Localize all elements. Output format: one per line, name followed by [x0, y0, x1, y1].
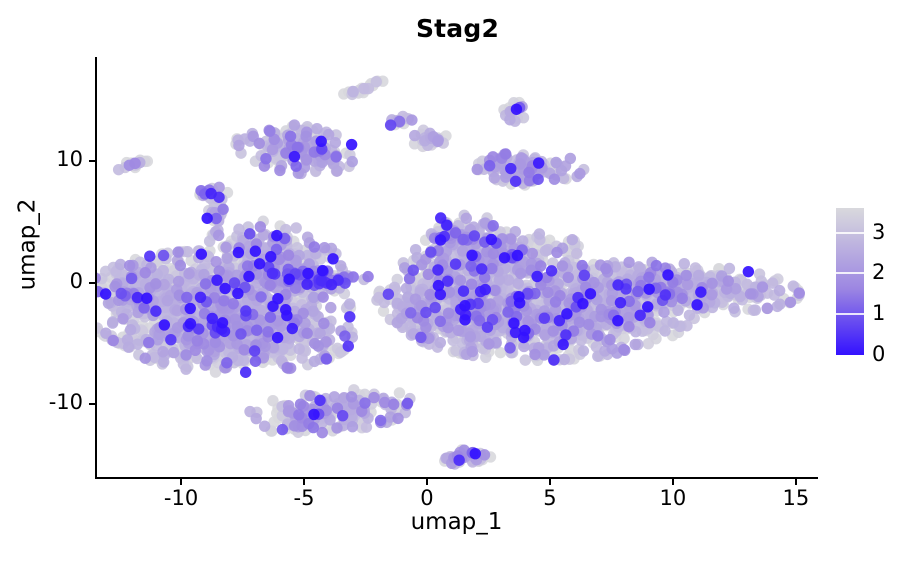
x-tick-mark — [303, 479, 305, 485]
y-tick-mark — [89, 160, 95, 162]
x-tick-label: 10 — [638, 487, 708, 509]
x-tick-label: 5 — [515, 487, 585, 509]
x-tick-mark — [180, 479, 182, 485]
y-tick-label: -10 — [0, 391, 83, 413]
y-tick-mark — [89, 282, 95, 284]
x-tick-label: -10 — [146, 487, 216, 509]
x-tick-label: 15 — [761, 487, 831, 509]
x-tick-mark — [672, 479, 674, 485]
y-tick-mark — [89, 403, 95, 405]
y-tick-label: 10 — [0, 148, 83, 170]
x-tick-label: 0 — [392, 487, 462, 509]
x-tick-mark — [549, 479, 551, 485]
x-tick-label: -5 — [269, 487, 339, 509]
page-title: Stag2 — [95, 16, 820, 41]
x-tick-mark — [426, 479, 428, 485]
y-tick-label: 0 — [0, 270, 83, 292]
colorbar-tick-label: 2 — [872, 262, 885, 283]
axis-spine-bottom — [95, 477, 818, 479]
colorbar-tick-mark — [836, 232, 864, 234]
colorbar-tick-label: 3 — [872, 222, 885, 243]
scatter-plot-canvas — [95, 57, 818, 479]
x-axis-label: umap_1 — [95, 511, 818, 534]
plot-axes — [95, 57, 818, 479]
colorbar-gradient — [836, 208, 864, 355]
colorbar-tick-label: 1 — [872, 303, 885, 324]
axis-spine-left — [95, 57, 97, 479]
x-tick-mark — [795, 479, 797, 485]
colorbar-tick-mark — [836, 313, 864, 315]
colorbar-tick-mark — [836, 272, 864, 274]
y-axis-label: umap_2 — [17, 135, 40, 355]
umap-figure: Stag2 -10-5051015 -10010 umap_1 umap_2 0… — [0, 0, 911, 562]
colorbar-tick-label: 0 — [872, 344, 885, 365]
